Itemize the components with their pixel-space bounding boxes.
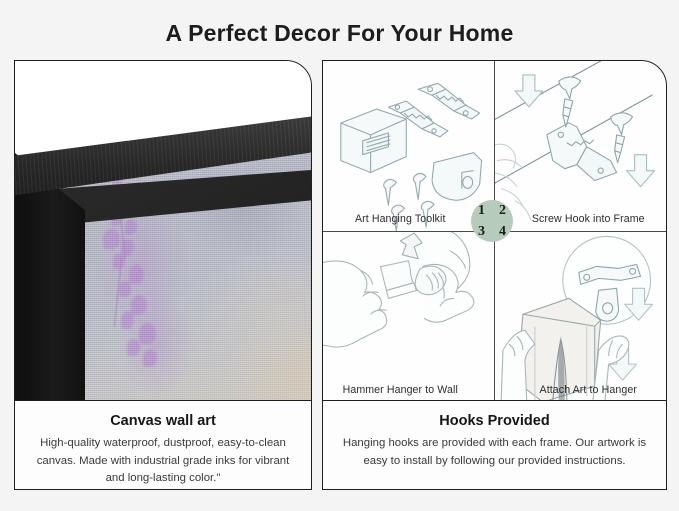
toolkit-icon bbox=[323, 61, 494, 231]
badge-number-4: 4 bbox=[492, 221, 513, 242]
step-cell-1: Art Hanging Toolkit bbox=[323, 61, 495, 232]
attach-art-icon bbox=[495, 232, 667, 403]
step-cell-3: Hammer Hanger to Wall bbox=[323, 232, 495, 403]
framed-canvas-photo bbox=[15, 61, 311, 402]
hooks-caption: Hooks Provided Hanging hooks are provide… bbox=[323, 400, 666, 489]
hammer-hanger-icon bbox=[323, 232, 494, 403]
canvas-caption-body: High-quality waterproof, dustproof, easy… bbox=[31, 435, 295, 488]
hooks-provided-panel: Art Hanging Toolkit bbox=[322, 60, 667, 490]
step-label-4: Attach Art to Hanger bbox=[495, 384, 667, 396]
step-label-3: Hammer Hanger to Wall bbox=[323, 384, 494, 396]
step-number-badge: 1 2 3 4 bbox=[471, 200, 513, 242]
canvas-wall-art-panel: Canvas wall art High-quality waterproof,… bbox=[14, 60, 312, 490]
step-cell-4: Attach Art to Hanger bbox=[495, 232, 667, 403]
hooks-caption-body: Hanging hooks are provided with each fra… bbox=[339, 435, 650, 470]
canvas-caption: Canvas wall art High-quality waterproof,… bbox=[15, 400, 311, 489]
hooks-caption-title: Hooks Provided bbox=[339, 413, 650, 429]
product-infographic: A Perfect Decor For Your Home bbox=[0, 0, 679, 511]
badge-number-2: 2 bbox=[492, 200, 513, 221]
step-label-2: Screw Hook into Frame bbox=[495, 213, 667, 225]
badge-number-3: 3 bbox=[471, 221, 492, 242]
step-label-1: Art Hanging Toolkit bbox=[323, 213, 494, 225]
screw-hook-icon bbox=[495, 61, 667, 231]
badge-number-1: 1 bbox=[471, 200, 492, 221]
page-title: A Perfect Decor For Your Home bbox=[0, 20, 679, 47]
step-cell-2: Screw Hook into Frame bbox=[495, 61, 667, 232]
canvas-caption-title: Canvas wall art bbox=[31, 413, 295, 429]
